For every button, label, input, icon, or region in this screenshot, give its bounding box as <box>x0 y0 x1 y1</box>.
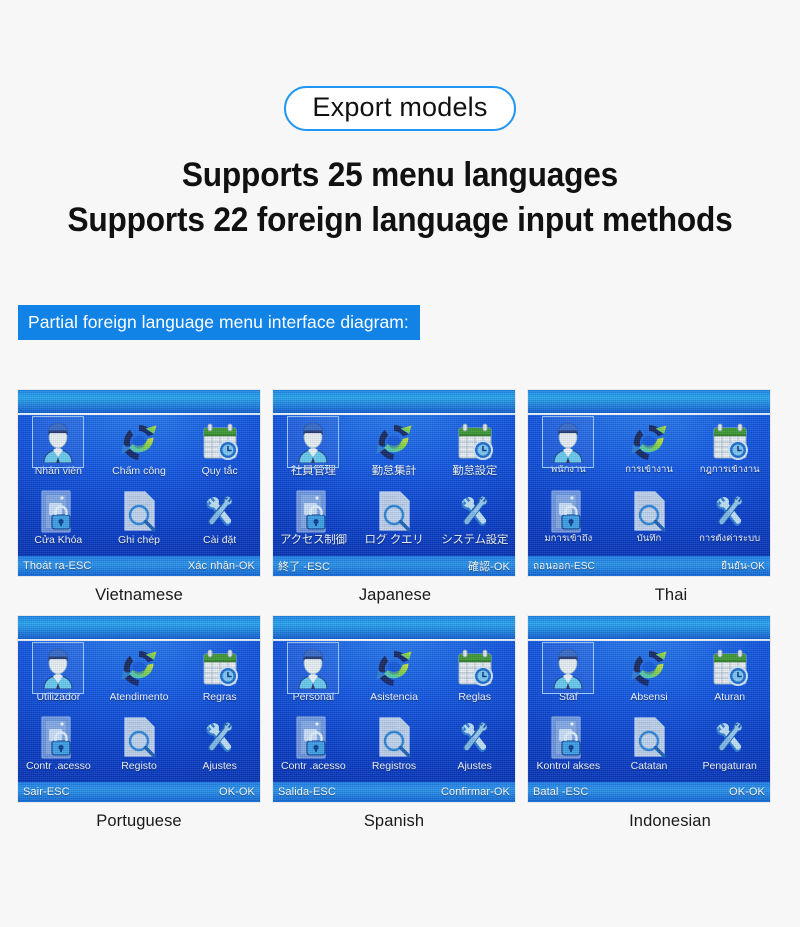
door-lock-icon[interactable] <box>291 715 335 759</box>
screen-header-bar <box>528 390 770 415</box>
menu-icon-grid: Personal Asistencia <box>273 643 515 780</box>
employee-person-icon[interactable] <box>546 646 590 690</box>
menu-tile-label: Asistencia <box>370 691 418 703</box>
rules-calendar-clock-icon[interactable] <box>453 420 497 464</box>
menu-tile-label: Ajustes <box>457 760 491 772</box>
footer-ok-hint[interactable]: Xác nhận-OK <box>188 560 255 572</box>
footer-esc-hint[interactable]: Batal -ESC <box>533 786 588 798</box>
menu-tile-record-document-search[interactable]: Ghi chép <box>99 486 180 555</box>
footer-ok-hint[interactable]: Confirmar-OK <box>441 786 510 798</box>
menu-tile-label: Pengaturan <box>703 760 757 772</box>
attendance-refresh-icon[interactable] <box>372 420 416 464</box>
screen-header-bar <box>273 390 515 415</box>
menu-tile-employee-person[interactable]: Personal <box>273 643 354 712</box>
menu-tile-attendance-refresh[interactable]: Atendimento <box>99 643 180 712</box>
settings-wrench-screwdriver-icon[interactable] <box>198 715 242 759</box>
device-screen-cell-spanish: Menú Personal <box>273 616 515 831</box>
menu-tile-attendance-refresh[interactable]: 勤怠集計 <box>354 417 435 486</box>
rules-calendar-clock-icon[interactable] <box>453 646 497 690</box>
menu-tile-employee-person[interactable]: 社員管理 <box>273 417 354 486</box>
attendance-refresh-icon[interactable] <box>627 646 671 690</box>
menu-tile-label: 勤怠集計 <box>372 465 417 478</box>
menu-tile-door-lock[interactable]: Cửa Khóa <box>18 486 99 555</box>
header-divider <box>528 413 770 415</box>
screen-footer-bar: Batal -ESCOK-OK <box>528 782 770 802</box>
menu-tile-attendance-refresh[interactable]: การเข้างาน <box>609 417 690 486</box>
header-divider <box>273 413 515 415</box>
menu-tile-record-document-search[interactable]: ログ クエリ <box>354 486 435 555</box>
device-screen-spanish: Menú Personal <box>273 616 515 802</box>
menu-tile-employee-person[interactable]: Nhân viên <box>18 417 99 486</box>
screen-caption-thai: Thai <box>528 576 770 605</box>
screen-footer-bar: Salida-ESCConfirmar-OK <box>273 782 515 802</box>
employee-person-icon[interactable] <box>36 420 80 464</box>
screen-caption-vietnamese: Vietnamese <box>18 576 260 605</box>
menu-tile-settings-wrench-screwdriver[interactable]: Ajustes <box>179 712 260 781</box>
header-divider <box>18 639 260 641</box>
page-headline: Supports 25 menu languages Supports 22 f… <box>28 153 772 243</box>
menu-tile-rules-calendar-clock[interactable]: Aturan <box>689 643 770 712</box>
employee-person-icon[interactable] <box>546 420 590 464</box>
menu-tile-employee-person[interactable]: Utilizador <box>18 643 99 712</box>
menu-tile-label: Absensi <box>630 691 667 703</box>
menu-tile-label: Chấm công <box>112 465 166 477</box>
menu-tile-label: Atendimento <box>110 691 169 703</box>
attendance-refresh-icon[interactable] <box>627 420 671 464</box>
header-divider <box>273 639 515 641</box>
header-divider <box>528 639 770 641</box>
menu-tile-door-lock[interactable]: Kontrol akses <box>528 712 609 781</box>
settings-wrench-screwdriver-icon[interactable] <box>453 489 497 533</box>
rules-calendar-clock-icon[interactable] <box>198 420 242 464</box>
menu-tile-label: ログ クエリ <box>365 534 424 547</box>
footer-esc-hint[interactable]: ถอนออก-ESC <box>533 559 595 574</box>
footer-ok-hint[interactable]: OK-OK <box>729 786 765 798</box>
menu-tile-rules-calendar-clock[interactable]: Quy tắc <box>179 417 260 486</box>
device-screen-cell-japanese: メニュー 社員管理 <box>273 390 515 605</box>
menu-tile-settings-wrench-screwdriver[interactable]: システム設定 <box>434 486 515 555</box>
menu-tile-rules-calendar-clock[interactable]: Reglas <box>434 643 515 712</box>
menu-tile-attendance-refresh[interactable]: Absensi <box>609 643 690 712</box>
menu-tile-rules-calendar-clock[interactable]: Regras <box>179 643 260 712</box>
menu-tile-label: Kontrol akses <box>537 760 601 772</box>
screen-header-bar <box>18 616 260 641</box>
record-document-search-icon[interactable] <box>372 715 416 759</box>
door-lock-icon[interactable] <box>36 489 80 533</box>
menu-tile-door-lock[interactable]: Contr .acesso <box>18 712 99 781</box>
settings-wrench-screwdriver-icon[interactable] <box>708 715 752 759</box>
record-document-search-icon[interactable] <box>117 715 161 759</box>
menu-tile-label: Cửa Khóa <box>34 534 82 546</box>
rules-calendar-clock-icon[interactable] <box>708 646 752 690</box>
menu-tile-label: Cài đặt <box>203 534 236 546</box>
menu-icon-grid: Nhân viên Chấm công <box>18 417 260 554</box>
menu-tile-rules-calendar-clock[interactable]: 勤怠設定 <box>434 417 515 486</box>
employee-person-icon[interactable] <box>291 646 335 690</box>
employee-person-icon[interactable] <box>291 420 335 464</box>
menu-tile-record-document-search[interactable]: บันทึก <box>609 486 690 555</box>
screen-caption-portuguese: Portuguese <box>18 802 260 831</box>
menu-tile-employee-person[interactable]: พนักงาน <box>528 417 609 486</box>
menu-tile-attendance-refresh[interactable]: Asistencia <box>354 643 435 712</box>
device-screen-japanese: メニュー 社員管理 <box>273 390 515 576</box>
footer-ok-hint[interactable]: 確認-OK <box>468 558 510 574</box>
footer-esc-hint[interactable]: Thoát ra-ESC <box>23 560 91 572</box>
employee-person-icon[interactable] <box>36 646 80 690</box>
footer-ok-hint[interactable]: ยืนยัน-OK <box>721 559 765 574</box>
device-screen-cell-indonesian: Menu Staf <box>528 616 770 831</box>
device-screen-portuguese: Menu Utilizador <box>18 616 260 802</box>
attendance-refresh-icon[interactable] <box>117 420 161 464</box>
section-label: Partial foreign language menu interface … <box>18 305 420 340</box>
menu-tile-label: บันทึก <box>637 534 662 545</box>
menu-tile-label: アクセス制御 <box>280 534 347 547</box>
menu-tile-label: Reglas <box>458 691 491 703</box>
menu-tile-label: Regras <box>203 691 237 703</box>
menu-tile-label: システム設定 <box>441 534 508 547</box>
menu-tile-settings-wrench-screwdriver[interactable]: Ajustes <box>434 712 515 781</box>
device-screen-cell-portuguese: Menu Utilizador <box>18 616 260 831</box>
menu-tile-label: Contr .acesso <box>281 760 346 772</box>
menu-icon-grid: พนักงาน การเข้างาน <box>528 417 770 554</box>
footer-ok-hint[interactable]: OK-OK <box>219 786 255 798</box>
door-lock-icon[interactable] <box>546 489 590 533</box>
menu-icon-grid: Utilizador Atendimento <box>18 643 260 780</box>
menu-tile-label: Contr .acesso <box>26 760 91 772</box>
screen-header-bar <box>273 616 515 641</box>
device-screens-grid: Thực đơn Nhân viên <box>18 390 782 831</box>
section-label-wrap: Partial foreign language menu interface … <box>0 305 800 340</box>
menu-tile-label: การเข้างาน <box>625 465 673 476</box>
rules-calendar-clock-icon[interactable] <box>198 646 242 690</box>
menu-tile-door-lock[interactable]: アクセス制御 <box>273 486 354 555</box>
menu-tile-label: 勤怠設定 <box>452 465 497 478</box>
screen-footer-bar: 終了 -ESC確認-OK <box>273 556 515 576</box>
menu-tile-rules-calendar-clock[interactable]: กฎการเข้างาน <box>689 417 770 486</box>
door-lock-icon[interactable] <box>546 715 590 759</box>
menu-tile-label: Ghi chép <box>118 534 160 546</box>
menu-tile-settings-wrench-screwdriver[interactable]: Pengaturan <box>689 712 770 781</box>
menu-tile-door-lock[interactable]: Contr .acesso <box>273 712 354 781</box>
door-lock-icon[interactable] <box>291 489 335 533</box>
device-screen-indonesian: Menu Staf <box>528 616 770 802</box>
screen-footer-bar: Thoát ra-ESCXác nhận-OK <box>18 556 260 576</box>
menu-tile-label: มการเข้าถึง <box>544 534 592 545</box>
menu-tile-label: Aturan <box>714 691 745 703</box>
device-screen-cell-thai: เมนู พนักงาน <box>528 390 770 605</box>
screen-footer-bar: Sair-ESCOK-OK <box>18 782 260 802</box>
menu-tile-label: Registros <box>372 760 416 772</box>
menu-tile-label: การตั้งค่าระบบ <box>699 534 760 545</box>
footer-esc-hint[interactable]: 終了 -ESC <box>278 558 330 574</box>
settings-wrench-screwdriver-icon[interactable] <box>708 489 752 533</box>
screen-footer-bar: ถอนออก-ESCยืนยัน-OK <box>528 556 770 576</box>
attendance-refresh-icon[interactable] <box>372 646 416 690</box>
screen-caption-japanese: Japanese <box>273 576 515 605</box>
device-screen-vietnamese: Thực đơn Nhân viên <box>18 390 260 576</box>
headline-line-1: Supports 25 menu languages <box>182 156 618 194</box>
screen-caption-spanish: Spanish <box>273 802 515 831</box>
menu-icon-grid: Staf Absensi <box>528 643 770 780</box>
record-document-search-icon[interactable] <box>117 489 161 533</box>
settings-wrench-screwdriver-icon[interactable] <box>198 489 242 533</box>
menu-tile-attendance-refresh[interactable]: Chấm công <box>99 417 180 486</box>
menu-tile-label: Catatan <box>631 760 668 772</box>
menu-tile-record-document-search[interactable]: Registros <box>354 712 435 781</box>
settings-wrench-screwdriver-icon[interactable] <box>453 715 497 759</box>
screen-header-bar <box>528 616 770 641</box>
menu-tile-record-document-search[interactable]: Registo <box>99 712 180 781</box>
header-divider <box>18 413 260 415</box>
menu-icon-grid: 社員管理 勤怠集計 <box>273 417 515 554</box>
footer-esc-hint[interactable]: Sair-ESC <box>23 786 70 798</box>
menu-tile-record-document-search[interactable]: Catatan <box>609 712 690 781</box>
device-screen-thai: เมนู พนักงาน <box>528 390 770 576</box>
menu-tile-employee-person[interactable]: Staf <box>528 643 609 712</box>
attendance-refresh-icon[interactable] <box>117 646 161 690</box>
menu-tile-label: Ajustes <box>202 760 236 772</box>
footer-esc-hint[interactable]: Salida-ESC <box>278 786 336 798</box>
screen-header-bar <box>18 390 260 415</box>
door-lock-icon[interactable] <box>36 715 80 759</box>
rules-calendar-clock-icon[interactable] <box>708 420 752 464</box>
device-screen-cell-vietnamese: Thực đơn Nhân viên <box>18 390 260 605</box>
record-document-search-icon[interactable] <box>372 489 416 533</box>
screen-caption-indonesian: Indonesian <box>528 802 770 831</box>
menu-tile-label: Registo <box>121 760 157 772</box>
headline-line-2: Supports 22 foreign language input metho… <box>28 198 772 243</box>
record-document-search-icon[interactable] <box>627 715 671 759</box>
menu-tile-label: Quy tắc <box>202 465 238 477</box>
menu-tile-label: กฎการเข้างาน <box>700 465 760 476</box>
export-models-badge: Export models <box>284 86 515 131</box>
badge-row: Export models <box>0 0 800 131</box>
menu-tile-door-lock[interactable]: มการเข้าถึง <box>528 486 609 555</box>
menu-tile-settings-wrench-screwdriver[interactable]: การตั้งค่าระบบ <box>689 486 770 555</box>
record-document-search-icon[interactable] <box>627 489 671 533</box>
menu-tile-settings-wrench-screwdriver[interactable]: Cài đặt <box>179 486 260 555</box>
